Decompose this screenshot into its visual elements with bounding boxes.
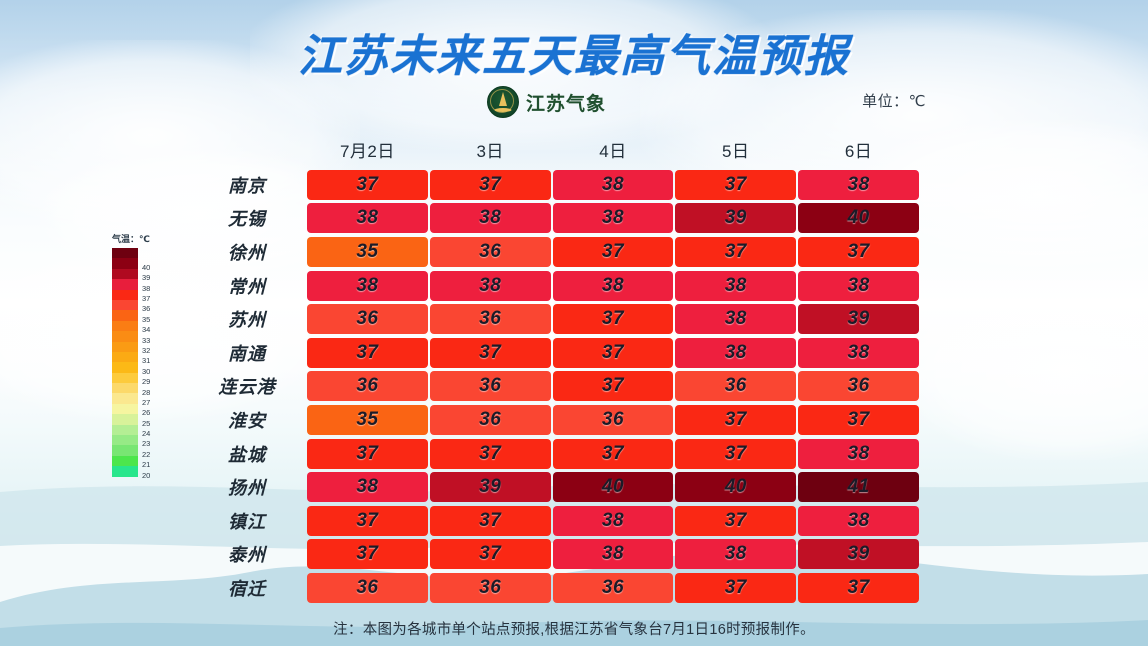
legend-swatch — [112, 404, 138, 414]
legend-swatch — [112, 445, 138, 455]
temperature-cell: 37 — [798, 405, 919, 435]
legend-tick-label: 23 — [142, 440, 150, 448]
temperature-cell: 37 — [553, 237, 674, 267]
temperature-cell: 38 — [307, 203, 428, 233]
temperature-cell: 37 — [307, 506, 428, 536]
temperature-cell: 35 — [307, 237, 428, 267]
table-row: 无锡3838383940 — [196, 202, 920, 236]
temperature-cell: 38 — [553, 506, 674, 536]
temperature-cell-container: 38 — [797, 338, 920, 368]
temperature-cell-container: 37 — [797, 573, 920, 603]
legend-swatch — [112, 373, 138, 383]
legend-tick-label: 28 — [142, 389, 150, 397]
city-label: 盐城 — [196, 441, 306, 467]
legend-swatch — [112, 383, 138, 393]
city-label: 镇江 — [196, 508, 306, 534]
temperature-cell: 38 — [307, 271, 428, 301]
temperature-cell-container: 37 — [674, 405, 797, 435]
temperature-cell: 38 — [675, 539, 796, 569]
legend-row: 22 — [112, 445, 168, 455]
legend-tick-label: 32 — [142, 347, 150, 355]
legend-tick-label: 20 — [142, 472, 150, 480]
temperature-cell: 37 — [307, 539, 428, 569]
legend-tick-label: 39 — [142, 274, 150, 282]
temperature-cell: 37 — [430, 170, 551, 200]
temperature-cell-container: 37 — [429, 439, 552, 469]
temperature-cell: 37 — [798, 573, 919, 603]
temperature-cell-container: 36 — [797, 371, 920, 401]
table-row: 扬州3839404041 — [196, 470, 920, 504]
legend-swatch — [112, 414, 138, 424]
legend-swatch — [112, 352, 138, 362]
temperature-cell: 36 — [675, 371, 796, 401]
page-title: 江苏未来五天最高气温预报 — [298, 20, 850, 84]
temperature-cell: 38 — [798, 439, 919, 469]
temperature-cell-container: 38 — [552, 203, 675, 233]
temperature-cell-container: 37 — [552, 439, 675, 469]
temperature-cell: 39 — [675, 203, 796, 233]
legend-tick-label: 30 — [142, 368, 150, 376]
temperature-cell-container: 37 — [797, 237, 920, 267]
temperature-cell: 38 — [553, 271, 674, 301]
legend-swatch — [112, 279, 138, 289]
legend-row: 21 — [112, 456, 168, 466]
temperature-cell: 38 — [798, 506, 919, 536]
temperature-cell: 38 — [675, 304, 796, 334]
legend-row: 27 — [112, 393, 168, 403]
legend-row: 37 — [112, 290, 168, 300]
legend-row: 25 — [112, 414, 168, 424]
temperature-cell-container: 36 — [429, 371, 552, 401]
legend-swatch — [112, 466, 138, 476]
temperature-cell-container: 38 — [552, 539, 675, 569]
temperature-cell: 36 — [430, 304, 551, 334]
temperature-cell: 38 — [430, 203, 551, 233]
legend-tick-label: 31 — [142, 357, 150, 365]
legend-swatch — [112, 342, 138, 352]
temperature-cell: 39 — [430, 472, 551, 502]
temperature-cell-container: 38 — [552, 271, 675, 301]
temperature-cell-container: 40 — [552, 472, 675, 502]
legend-tick-label: 38 — [142, 285, 150, 293]
table-row: 镇江3737383738 — [196, 504, 920, 538]
forecast-infographic: 江苏未来五天最高气温预报 江苏气象 单位：℃ 气温：℃ 403938373635… — [0, 0, 1148, 646]
brand-logo-label: 江苏气象 — [526, 89, 606, 116]
legend-row: 39 — [112, 269, 168, 279]
table-row: 淮安3536363737 — [196, 403, 920, 437]
legend-row: 26 — [112, 404, 168, 414]
temperature-cell: 37 — [553, 371, 674, 401]
jiangsu-meteorological-emblem-icon — [487, 86, 519, 118]
brand-logo: 江苏气象 — [487, 86, 606, 118]
temperature-cell: 37 — [553, 439, 674, 469]
cloud-decoration — [900, 280, 1148, 460]
temperature-color-legend: 气温：℃ 40393837363534333231302928272625242… — [112, 232, 168, 477]
table-row: 盐城3737373738 — [196, 437, 920, 471]
table-row: 宿迁3636363737 — [196, 571, 920, 605]
temperature-cell: 38 — [675, 271, 796, 301]
temperature-cell-container: 36 — [552, 405, 675, 435]
temperature-cell-container: 36 — [429, 237, 552, 267]
temperature-cell-container: 38 — [674, 304, 797, 334]
temperature-cell-container: 35 — [306, 237, 429, 267]
temperature-cell: 38 — [553, 539, 674, 569]
table-row: 连云港3636373636 — [196, 370, 920, 404]
legend-tick-label: 22 — [142, 451, 150, 459]
legend-tick-label: 26 — [142, 409, 150, 417]
temperature-cell: 36 — [430, 573, 551, 603]
temperature-cell-container: 37 — [552, 237, 675, 267]
city-label: 苏州 — [196, 306, 306, 332]
column-header-day: 6日 — [797, 137, 920, 164]
temperature-cell: 38 — [430, 271, 551, 301]
legend-row: 32 — [112, 342, 168, 352]
temperature-cell-container: 38 — [674, 338, 797, 368]
temperature-cell-container: 38 — [306, 472, 429, 502]
temperature-cell-container: 37 — [429, 338, 552, 368]
page-title-container: 江苏未来五天最高气温预报 — [0, 20, 1148, 84]
temperature-cell-container: 37 — [306, 338, 429, 368]
legend-tick-label: 37 — [142, 295, 150, 303]
table-row: 泰州3737383839 — [196, 538, 920, 572]
temperature-cell-container: 39 — [429, 472, 552, 502]
temperature-cell: 38 — [553, 170, 674, 200]
temperature-cell: 35 — [307, 405, 428, 435]
legend-tick-label: 24 — [142, 430, 150, 438]
temperature-cell: 37 — [430, 539, 551, 569]
temperature-cell: 39 — [798, 304, 919, 334]
temperature-cell: 37 — [430, 338, 551, 368]
temperature-cell: 37 — [553, 304, 674, 334]
temperature-cell: 37 — [553, 338, 674, 368]
temperature-cell: 37 — [307, 439, 428, 469]
temperature-cell: 37 — [798, 237, 919, 267]
temperature-cell-container: 38 — [429, 203, 552, 233]
temperature-cell: 37 — [307, 338, 428, 368]
temperature-cell-container: 39 — [797, 539, 920, 569]
temperature-cell: 36 — [798, 371, 919, 401]
legend-row: 30 — [112, 362, 168, 372]
temperature-cell: 38 — [307, 472, 428, 502]
legend-tick-label: 29 — [142, 378, 150, 386]
temperature-cell-container: 36 — [306, 371, 429, 401]
legend-swatch — [112, 331, 138, 341]
temperature-cell: 37 — [675, 573, 796, 603]
city-label: 宿迁 — [196, 575, 306, 601]
temperature-cell-container: 37 — [429, 506, 552, 536]
legend-tick-label: 34 — [142, 326, 150, 334]
table-body: 南京3737383738无锡3838383940徐州3536373737常州38… — [196, 168, 920, 605]
temperature-cell: 36 — [553, 405, 674, 435]
table-row: 徐州3536373737 — [196, 235, 920, 269]
temperature-cell: 37 — [307, 170, 428, 200]
legend-swatch — [112, 362, 138, 372]
legend-tick-label: 21 — [142, 461, 150, 469]
legend-swatch — [112, 269, 138, 279]
temperature-cell-container: 37 — [674, 170, 797, 200]
legend-row: 35 — [112, 310, 168, 320]
legend-row: 34 — [112, 321, 168, 331]
city-label: 常州 — [196, 273, 306, 299]
temperature-cell-container: 37 — [674, 573, 797, 603]
temperature-cell-container: 37 — [429, 539, 552, 569]
legend-title: 气温：℃ — [112, 232, 168, 245]
temperature-cell: 37 — [675, 439, 796, 469]
temperature-cell: 36 — [307, 573, 428, 603]
temperature-cell: 39 — [798, 539, 919, 569]
temperature-cell-container: 38 — [306, 203, 429, 233]
temperature-cell-container: 37 — [674, 237, 797, 267]
temperature-cell-container: 36 — [552, 573, 675, 603]
city-label: 连云港 — [196, 373, 306, 399]
temperature-cell: 38 — [798, 170, 919, 200]
temperature-cell-container: 38 — [429, 271, 552, 301]
legend-tick-label: 36 — [142, 305, 150, 313]
temperature-cell-container: 38 — [674, 271, 797, 301]
column-header-day: 4日 — [552, 137, 675, 164]
legend-row: 38 — [112, 279, 168, 289]
legend-swatch — [112, 425, 138, 435]
temperature-cell-container: 39 — [674, 203, 797, 233]
table-row: 南京3737383738 — [196, 168, 920, 202]
legend-swatch — [112, 310, 138, 320]
temperature-cell: 40 — [675, 472, 796, 502]
temperature-cell-container: 36 — [306, 573, 429, 603]
temperature-cell-container: 37 — [674, 439, 797, 469]
legend-row: 31 — [112, 352, 168, 362]
legend-row — [112, 248, 168, 258]
legend-row: 33 — [112, 331, 168, 341]
temperature-cell-container: 36 — [429, 573, 552, 603]
city-label: 扬州 — [196, 474, 306, 500]
temperature-cell: 37 — [430, 439, 551, 469]
legend-tick-label: 25 — [142, 420, 150, 428]
city-label: 南通 — [196, 340, 306, 366]
column-header-day: 3日 — [429, 137, 552, 164]
legend-scale: 4039383736353433323130292827262524232221… — [112, 248, 168, 477]
logo-row: 江苏气象 单位：℃ — [0, 86, 1148, 120]
temperature-cell-container: 39 — [797, 304, 920, 334]
city-label: 泰州 — [196, 541, 306, 567]
legend-row: 29 — [112, 373, 168, 383]
temperature-cell: 40 — [798, 203, 919, 233]
temperature-cell-container: 41 — [797, 472, 920, 502]
temperature-cell-container: 37 — [552, 338, 675, 368]
temperature-cell: 37 — [430, 506, 551, 536]
table-row: 南通3737373838 — [196, 336, 920, 370]
temperature-cell: 36 — [430, 405, 551, 435]
temperature-cell-container: 37 — [552, 304, 675, 334]
temperature-cell-container: 37 — [797, 405, 920, 435]
temperature-cell-container: 37 — [429, 170, 552, 200]
temperature-cell: 37 — [675, 506, 796, 536]
temperature-cell-container: 37 — [306, 439, 429, 469]
temperature-cell-container: 36 — [674, 371, 797, 401]
temperature-cell: 37 — [675, 170, 796, 200]
temperature-cell: 38 — [553, 203, 674, 233]
legend-swatch — [112, 258, 138, 268]
city-label: 徐州 — [196, 239, 306, 265]
temperature-cell-container: 38 — [797, 439, 920, 469]
table-header-row: 7月2日3日4日5日6日 — [196, 134, 920, 164]
legend-row: 40 — [112, 258, 168, 268]
legend-swatch — [112, 290, 138, 300]
legend-row: 36 — [112, 300, 168, 310]
temperature-cell-container: 38 — [797, 271, 920, 301]
temperature-cell: 40 — [553, 472, 674, 502]
temperature-cell: 38 — [798, 271, 919, 301]
temperature-cell-container: 37 — [306, 170, 429, 200]
temperature-cell: 41 — [798, 472, 919, 502]
temperature-cell: 36 — [553, 573, 674, 603]
temperature-cell: 37 — [675, 237, 796, 267]
unit-label: 单位：℃ — [862, 90, 926, 111]
legend-tick-label: 40 — [142, 264, 150, 272]
temperature-cell: 36 — [430, 371, 551, 401]
temperature-cell-container: 36 — [429, 405, 552, 435]
temperature-cell-container: 40 — [674, 472, 797, 502]
city-label: 无锡 — [196, 205, 306, 231]
legend-swatch — [112, 393, 138, 403]
legend-tick-label: 35 — [142, 316, 150, 324]
legend-swatch — [112, 435, 138, 445]
temperature-cell: 36 — [307, 371, 428, 401]
temperature-cell-container: 37 — [306, 539, 429, 569]
forecast-table: 7月2日3日4日5日6日 南京3737383738无锡3838383940徐州3… — [196, 134, 920, 605]
legend-swatch — [112, 300, 138, 310]
temperature-cell-container: 38 — [306, 271, 429, 301]
column-header-day: 5日 — [674, 137, 797, 164]
temperature-cell-container: 38 — [797, 506, 920, 536]
column-header-day: 7月2日 — [306, 137, 429, 164]
temperature-cell-container: 38 — [552, 170, 675, 200]
legend-tick-label: 33 — [142, 337, 150, 345]
temperature-cell-container: 37 — [306, 506, 429, 536]
temperature-cell-container: 38 — [552, 506, 675, 536]
legend-row: 28 — [112, 383, 168, 393]
city-label: 淮安 — [196, 407, 306, 433]
temperature-cell-container: 40 — [797, 203, 920, 233]
temperature-cell: 36 — [307, 304, 428, 334]
temperature-cell-container: 37 — [552, 371, 675, 401]
temperature-cell-container: 38 — [797, 170, 920, 200]
temperature-cell-container: 38 — [674, 539, 797, 569]
legend-swatch — [112, 321, 138, 331]
table-row: 苏州3636373839 — [196, 302, 920, 336]
temperature-cell-container: 37 — [674, 506, 797, 536]
temperature-cell: 37 — [675, 405, 796, 435]
temperature-cell-container: 36 — [429, 304, 552, 334]
temperature-cell: 38 — [798, 338, 919, 368]
footer-note: 注：本图为各城市单个站点预报,根据江苏省气象台7月1日16时预报制作。 — [0, 618, 1148, 639]
legend-swatch — [112, 456, 138, 466]
legend-swatch — [112, 248, 138, 258]
table-row: 常州3838383838 — [196, 269, 920, 303]
temperature-cell: 38 — [675, 338, 796, 368]
temperature-cell: 36 — [430, 237, 551, 267]
legend-tick-label: 27 — [142, 399, 150, 407]
legend-row: 23 — [112, 435, 168, 445]
city-label: 南京 — [196, 172, 306, 198]
legend-row: 20 — [112, 466, 168, 476]
temperature-cell-container: 36 — [306, 304, 429, 334]
temperature-cell-container: 35 — [306, 405, 429, 435]
legend-row: 24 — [112, 425, 168, 435]
